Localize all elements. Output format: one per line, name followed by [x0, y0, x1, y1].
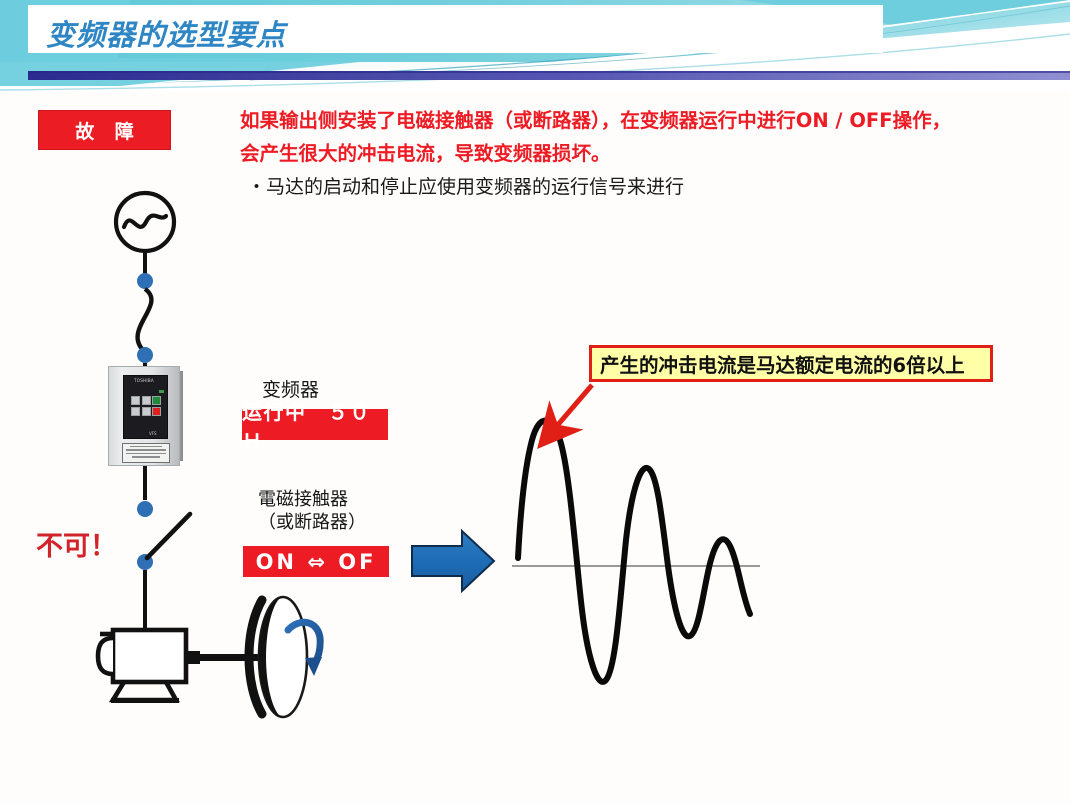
vfd-key-run[interactable]	[152, 396, 161, 405]
callout-box: 产生的冲击电流是马达额定电流的6倍以上	[589, 345, 993, 382]
vfd-status-led	[159, 390, 164, 393]
contactor-label-line2: （或断路器）	[258, 508, 366, 534]
vfd-warning-plate	[122, 443, 170, 463]
vfd-key-stop[interactable]	[152, 407, 161, 416]
vfd-key-1[interactable]	[131, 396, 140, 405]
callout-pointer-arrow	[556, 385, 592, 427]
contactor-switch-symbol	[137, 501, 190, 570]
vfd-key-2[interactable]	[142, 396, 151, 405]
vfd-key-3[interactable]	[131, 407, 140, 416]
contactor-status-badge: ON ⇔ OF	[243, 546, 389, 577]
vfd-key-4[interactable]	[142, 407, 151, 416]
blue-right-arrow-icon	[412, 531, 494, 591]
inverter-status-badge: 运行中 ５０Ｈ	[242, 409, 388, 440]
vfd-keypad[interactable]	[131, 396, 161, 416]
flywheel-icon	[249, 597, 307, 717]
ac-source-icon	[116, 193, 174, 251]
wire-curved-segment	[138, 289, 152, 352]
forbidden-label: 不可！	[36, 524, 117, 563]
terminal-node-lower	[137, 347, 153, 363]
callout-text: 产生的冲击电流是马达额定电流的6倍以上	[600, 349, 965, 378]
vfd-brand-label: TOSHIBA	[134, 378, 154, 383]
surge-waveform-chart	[512, 421, 760, 682]
vfd-model-label: VFS	[149, 431, 157, 436]
terminal-node-upper	[137, 273, 153, 289]
vfd-device: TOSHIBA VFS	[108, 366, 180, 466]
motor-icon	[98, 630, 262, 703]
slide-canvas: 变频器的选型要点 故 障 如果输出侧安装了电磁接触器（或断路器），在变频器运行中…	[0, 0, 1070, 803]
waveform-trace	[518, 421, 750, 682]
vfd-control-panel: TOSHIBA VFS	[123, 375, 168, 439]
